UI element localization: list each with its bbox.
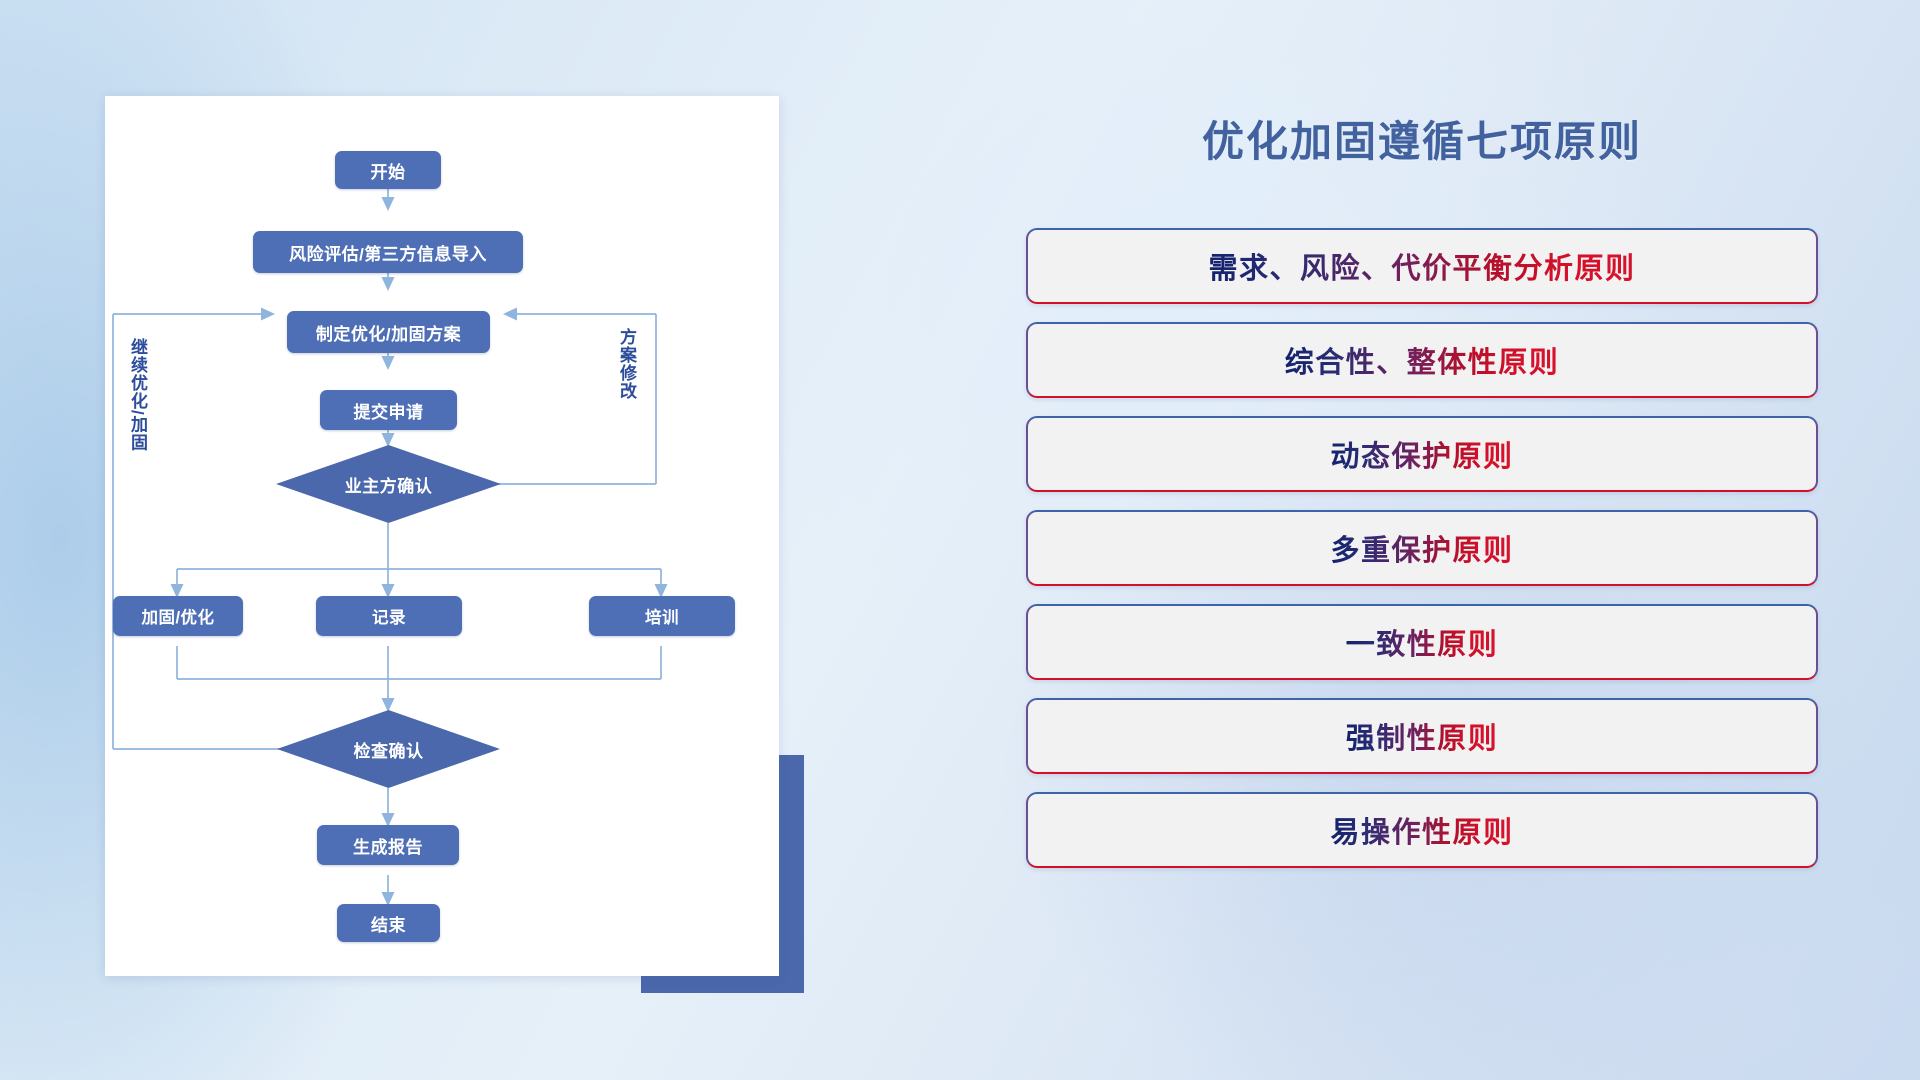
- principle-label: 强制性原则: [1346, 715, 1499, 757]
- flow-node-make-plan[interactable]: 制定优化/加固方案: [287, 311, 490, 353]
- principle-item-7[interactable]: 易操作性原则: [1026, 792, 1818, 868]
- flow-node-risk-assessment[interactable]: 风险评估/第三方信息导入: [253, 231, 523, 273]
- principles-list: 需求、风险、代价平衡分析原则 综合性、整体性原则 动态保护原则 多重保护原则 一…: [1026, 228, 1818, 886]
- flow-label-continue-optimize: 继续优化/加固: [128, 338, 146, 468]
- panel-title: 优化加固遵循七项原则: [1022, 108, 1822, 169]
- flow-node-owner-confirm-label: 业主方确认: [345, 472, 433, 497]
- principle-item-1[interactable]: 需求、风险、代价平衡分析原则: [1026, 228, 1818, 304]
- flowchart-diagram: 开始 风险评估/第三方信息导入 制定优化/加固方案 提交申请 业主方确认 加固/…: [105, 96, 779, 976]
- principle-label: 需求、风险、代价平衡分析原则: [1208, 245, 1635, 287]
- principle-item-4[interactable]: 多重保护原则: [1026, 510, 1818, 586]
- principle-label: 易操作性原则: [1330, 809, 1513, 851]
- flow-node-submit-application[interactable]: 提交申请: [320, 390, 457, 430]
- principle-item-2[interactable]: 综合性、整体性原则: [1026, 322, 1818, 398]
- principles-panel: 优化加固遵循七项原则 需求、风险、代价平衡分析原则 综合性、整体性原则 动态保护…: [1022, 96, 1822, 986]
- principle-label: 一致性原则: [1346, 621, 1499, 663]
- flow-node-owner-confirm[interactable]: 业主方确认: [276, 445, 501, 523]
- principle-item-5[interactable]: 一致性原则: [1026, 604, 1818, 680]
- flow-node-check-confirm[interactable]: 检查确认: [277, 710, 500, 788]
- flow-node-end[interactable]: 结束: [337, 904, 440, 942]
- principle-item-3[interactable]: 动态保护原则: [1026, 416, 1818, 492]
- flow-node-check-confirm-label: 检查确认: [354, 737, 424, 762]
- principle-item-6[interactable]: 强制性原则: [1026, 698, 1818, 774]
- flow-label-plan-revision: 方案修改: [617, 328, 635, 428]
- flow-node-generate-report[interactable]: 生成报告: [317, 825, 459, 865]
- principle-label: 多重保护原则: [1330, 527, 1513, 569]
- slide-canvas: 开始 风险评估/第三方信息导入 制定优化/加固方案 提交申请 业主方确认 加固/…: [0, 0, 1920, 1080]
- flowchart-card: 开始 风险评估/第三方信息导入 制定优化/加固方案 提交申请 业主方确认 加固/…: [105, 96, 779, 976]
- flow-node-training[interactable]: 培训: [589, 596, 735, 636]
- flow-node-record[interactable]: 记录: [316, 596, 462, 636]
- flow-node-reinforce-optimize[interactable]: 加固/优化: [113, 596, 243, 636]
- flow-node-start[interactable]: 开始: [335, 151, 441, 189]
- principle-label: 综合性、整体性原则: [1285, 339, 1560, 381]
- principle-label: 动态保护原则: [1330, 433, 1513, 475]
